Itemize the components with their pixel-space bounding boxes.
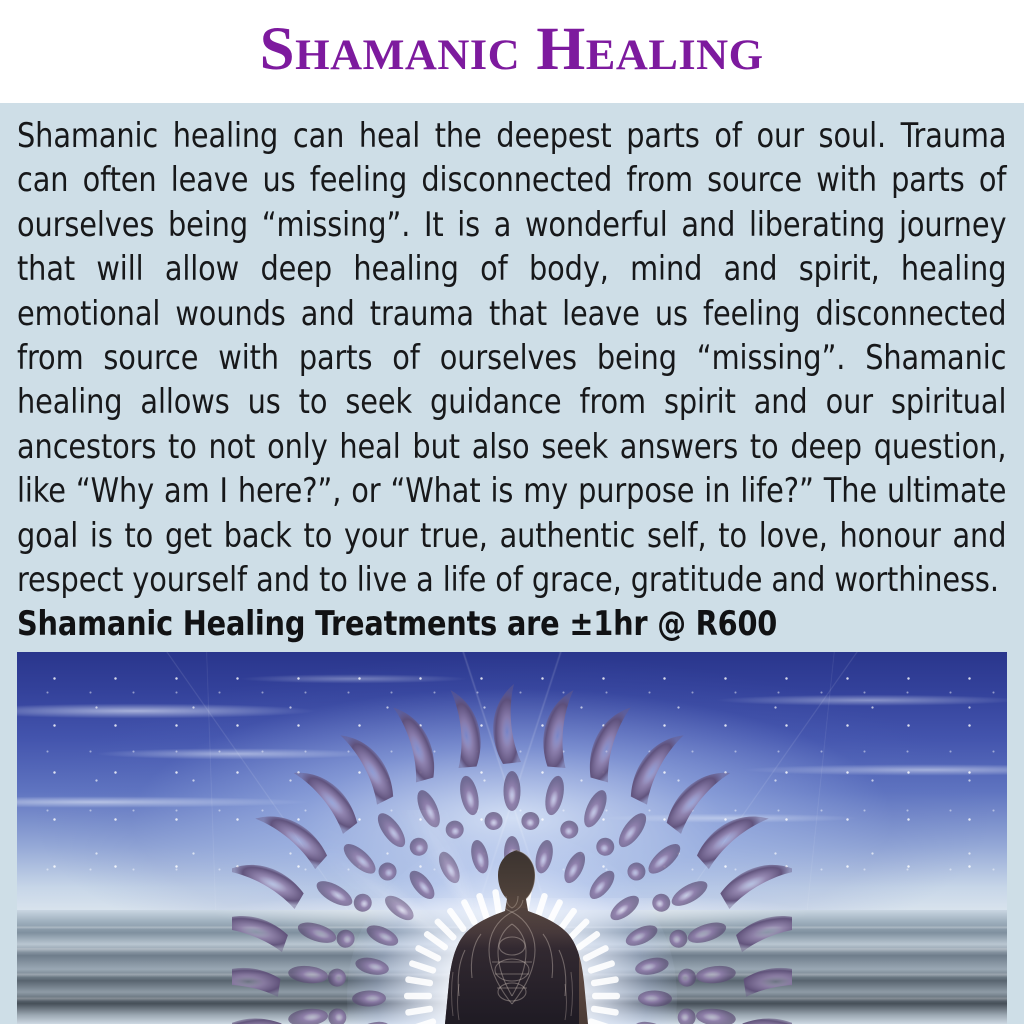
price-line: Shamanic Healing Treatments are ±1hr @ R… [17, 602, 1006, 646]
hero-photo [17, 652, 1007, 1024]
description-paragraph: Shamanic healing can heal the deepest pa… [17, 114, 1006, 602]
meditating-figure [393, 838, 631, 1024]
content-panel: Shamanic healing can heal the deepest pa… [0, 103, 1024, 1024]
poster-page: Shamanic Healing Shamanic healing can he… [0, 0, 1024, 1024]
header-band: Shamanic Healing [0, 0, 1024, 103]
figure-silhouette-icon [393, 838, 631, 1024]
page-title: Shamanic Healing [260, 19, 764, 84]
copy-block: Shamanic healing can heal the deepest pa… [17, 114, 1007, 647]
photo-canvas [17, 652, 1007, 1024]
